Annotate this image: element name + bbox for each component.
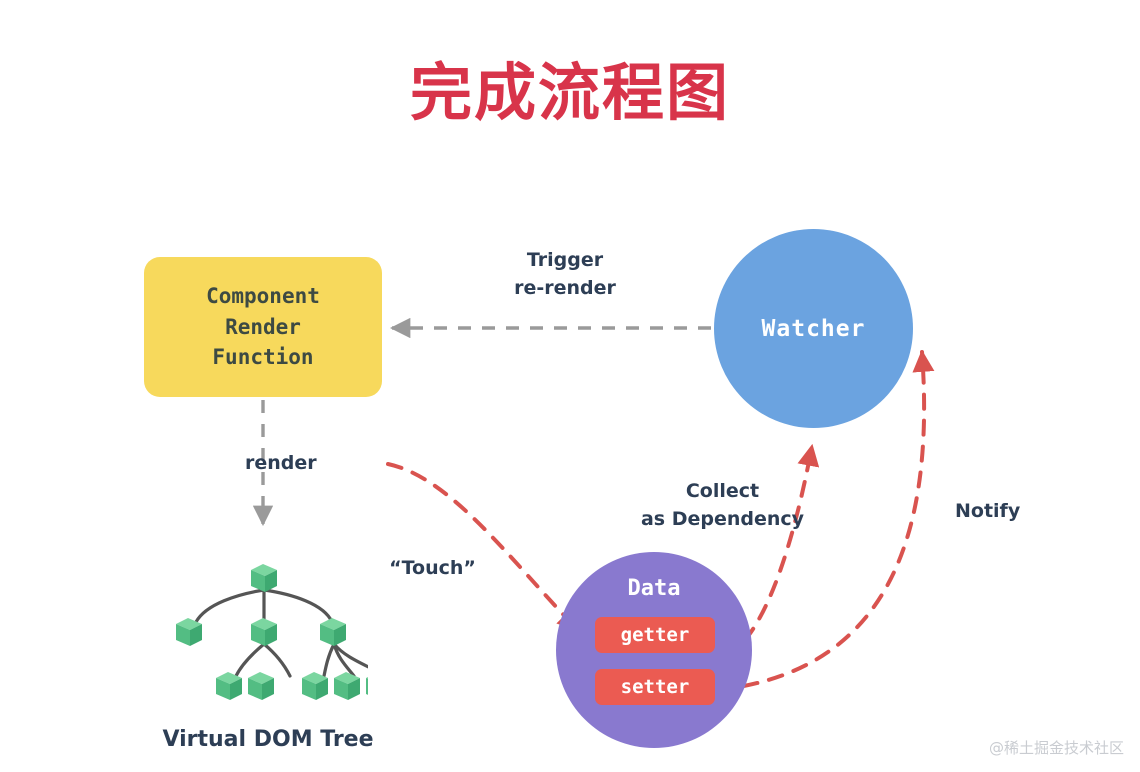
node-watcher[interactable]: Watcher	[714, 229, 913, 428]
vdom-node-leaf-2	[248, 672, 274, 700]
vdom-node-child-1	[176, 618, 202, 646]
edge-touch	[388, 464, 578, 630]
edge-label-trigger-re-render: Trigger re-render	[470, 247, 660, 302]
component-render-function-label: Component Render Function	[206, 281, 320, 372]
edge-label-touch: “Touch”	[355, 555, 510, 583]
vdom-node-child-2	[251, 618, 277, 646]
diagram-canvas: 完成流程图 Component Render Function Watcher	[0, 0, 1140, 772]
watcher-label: Watcher	[762, 316, 866, 342]
page-title: 完成流程图	[0, 62, 1140, 124]
data-getter-chip[interactable]: getter	[595, 617, 715, 653]
edge-label-render: render	[245, 450, 415, 478]
virtual-dom-tree-graphic	[168, 560, 368, 710]
vdom-node-root	[251, 564, 277, 592]
edge-collect-as-dependency	[745, 446, 812, 640]
vdom-node-leaf-4	[334, 672, 360, 700]
node-data[interactable]: Data getter setter	[556, 552, 752, 748]
vdom-node-child-3	[320, 618, 346, 646]
edge-label-collect-as-dependency: Collect as Dependency	[640, 478, 805, 533]
watermark: @稀土掘金技术社区	[989, 737, 1124, 758]
vdom-node-leaf-5	[366, 672, 368, 700]
vdom-node-leaf-1	[216, 672, 242, 700]
node-component-render-function[interactable]: Component Render Function	[144, 257, 382, 397]
edge-label-notify: Notify	[955, 498, 1055, 526]
data-setter-chip[interactable]: setter	[595, 669, 715, 705]
data-label: Data	[556, 576, 752, 601]
virtual-dom-tree-caption: Virtual DOM Tree	[128, 727, 408, 752]
